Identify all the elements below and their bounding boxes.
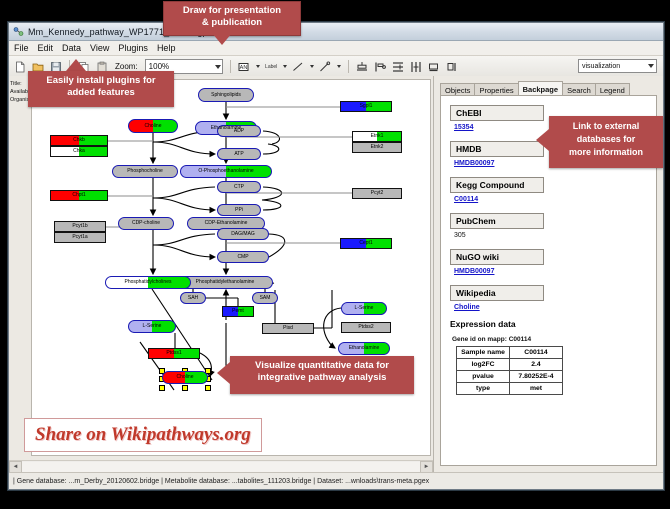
metabolite-node[interactable]: DAG/MAG: [217, 228, 269, 240]
node-label: Pcyt1b: [72, 224, 87, 229]
annotation-visualize-arrow: [217, 362, 230, 384]
metabolite-node[interactable]: L-Serine: [341, 302, 387, 315]
db-header-kegg: Kegg Compound: [450, 177, 544, 193]
expression-data-heading: Expression data: [450, 319, 656, 329]
title-bar: Mm_Kennedy_pathway_WP1771_45176.gpml: [9, 23, 663, 41]
metabolite-node[interactable]: SAM: [252, 292, 278, 304]
node-label: Ptdss2: [358, 325, 373, 330]
datanode-icon[interactable]: AN: [238, 60, 251, 73]
node-label: Pcyt2: [371, 191, 384, 196]
gene-node[interactable]: Pcyt2: [352, 188, 402, 199]
annotation-visualize-text: Visualize quantitative data for integrat…: [230, 360, 414, 384]
node-label: Pemt: [232, 309, 244, 314]
chevron-down-icon: [648, 64, 654, 68]
node-label: CTP: [234, 185, 244, 190]
line-dropdown-icon[interactable]: [310, 65, 314, 68]
tab-backpage[interactable]: Backpage: [518, 81, 563, 96]
db-header-wikipedia: Wikipedia: [450, 285, 544, 301]
node-label: ADP: [234, 129, 244, 134]
metabolite-node[interactable]: Phosphatidylethanolamine: [177, 276, 273, 289]
metabolite-node[interactable]: CTP: [217, 181, 261, 193]
annotation-links-text: Link to external databases for more info…: [549, 120, 663, 159]
annotation-link-external-databases: Link to external databases for more info…: [549, 116, 663, 168]
selection-handle[interactable]: [182, 385, 188, 391]
line-icon[interactable]: [292, 60, 305, 73]
gene-node[interactable]: Pcyt1b: [54, 221, 106, 232]
selection-handle[interactable]: [159, 385, 165, 391]
metabolite-node[interactable]: Choline: [128, 119, 178, 133]
expr-label-type: type: [457, 383, 510, 395]
node-label: O-Phosphoethanolamine: [198, 169, 253, 174]
chevron-down-icon: [215, 65, 221, 69]
menu-item-edit[interactable]: Edit: [38, 43, 54, 53]
order-icon[interactable]: [446, 60, 459, 73]
menu-bar: File Edit Data View Plugins Help: [9, 41, 663, 56]
distribute-vertical-icon[interactable]: [392, 60, 405, 73]
db-value-pubchem: 305: [454, 232, 656, 239]
table-row: Sample name C00114: [457, 347, 563, 359]
metabolite-node[interactable]: CDP-choline: [118, 217, 174, 230]
node-label: Phosphatidylethanolamine: [196, 280, 255, 285]
node-label: ATP: [234, 152, 243, 157]
annotation-draw-arrow: [212, 33, 232, 45]
node-label: Sphingolipids: [211, 93, 241, 98]
db-link-kegg[interactable]: C00114: [454, 196, 656, 203]
label-icon[interactable]: Label: [265, 60, 278, 73]
db-header-hmdb: HMDB: [450, 141, 544, 157]
side-panel-tabs: Objects Properties Backpage Search Legen…: [440, 82, 629, 96]
node-label: Ethanolamine: [349, 346, 380, 351]
expr-value-type: met: [510, 383, 563, 395]
annotation-share-text: Share on Wikipathways.org: [35, 424, 251, 446]
node-label: SAM: [260, 296, 271, 301]
annotation-draw-line1: Draw for presentation & publication: [164, 5, 300, 29]
menu-item-help[interactable]: Help: [157, 43, 176, 53]
node-label: CDP-choline: [132, 221, 160, 226]
node-label: Sgpl1: [360, 104, 373, 109]
node-label: PPi: [235, 208, 243, 213]
pathway-metadata-labels: Title: Availab Organis: [10, 80, 30, 104]
node-label: Cept1: [359, 241, 372, 246]
annotation-easily-install-plugins: Easily install plugins for added feature…: [28, 71, 174, 107]
metabolite-node[interactable]: SAH: [180, 292, 206, 304]
align-left-icon[interactable]: [374, 60, 387, 73]
visualization-combo[interactable]: visualization: [578, 59, 657, 73]
gene-node[interactable]: Etnk2: [352, 142, 402, 153]
gene-node[interactable]: Chka: [50, 146, 108, 157]
node-label: Chpt1: [72, 193, 85, 198]
annotation-links-arrow: [536, 129, 549, 151]
metabolite-node[interactable]: Choline: [162, 371, 208, 384]
align-center-icon[interactable]: [356, 60, 369, 73]
svg-text:AN: AN: [240, 65, 248, 71]
expr-label-log2fc: log2FC: [457, 359, 510, 371]
annotation-share-on-wikipathways: Share on Wikipathways.org: [24, 418, 262, 452]
metabolite-node[interactable]: Ethanolamine: [338, 342, 390, 355]
expr-label-sample-name: Sample name: [457, 347, 510, 359]
metabolite-node[interactable]: Phosphatidylcholines: [105, 276, 191, 289]
zoom-label: Zoom:: [115, 62, 138, 71]
visualization-value: visualization: [582, 63, 620, 70]
toolbar-separator-3: [348, 60, 349, 73]
gene-node[interactable]: Pcyt1a: [54, 232, 106, 243]
metabolite-node[interactable]: Sphingolipids: [198, 88, 254, 102]
db-link-nugowiki[interactable]: HMDB00097: [454, 268, 656, 275]
distribute-horizontal-icon[interactable]: [410, 60, 423, 73]
status-bar-text: | Gene database: ...m_Derby_20120602.bri…: [13, 478, 429, 485]
node-label: DAG/MAG: [231, 232, 255, 237]
node-label: Chka: [73, 149, 85, 154]
gene-node[interactable]: Pemt: [222, 306, 254, 317]
scroll-left-icon[interactable]: ◄: [9, 461, 22, 473]
menu-item-plugins[interactable]: Plugins: [118, 43, 148, 53]
table-row: log2FC 2.4: [457, 359, 563, 371]
status-bar: | Gene database: ...m_Derby_20120602.bri…: [9, 472, 663, 489]
gene-node[interactable]: Ptdss1: [148, 348, 200, 359]
node-label: CDP-Ethanolamine: [205, 221, 248, 226]
pathway-canvas[interactable]: SphingolipidsEthanolamineO-Phosphoethano…: [31, 79, 431, 456]
node-label: Choline: [145, 124, 162, 129]
gene-node[interactable]: Ptdss2: [341, 322, 391, 333]
screenshot-root: Draw for presentation & publication Mm_K…: [0, 0, 670, 509]
toolbar-separator-2: [230, 60, 231, 73]
expr-value-pvalue: 7.80252E-4: [510, 371, 563, 383]
anchor-icon[interactable]: [319, 60, 332, 73]
gene-node[interactable]: Cept1: [340, 238, 392, 249]
canvas-pane: Title: Availab Organis: [9, 76, 433, 472]
db-header-chebi: ChEBI: [450, 105, 544, 121]
annotation-visualize-quantitative-data: Visualize quantitative data for integrat…: [230, 356, 414, 394]
db-header-nugowiki: NuGO wiki: [450, 249, 544, 265]
node-label: Pcyt1a: [72, 235, 87, 240]
anchor-dropdown-icon[interactable]: [337, 65, 341, 68]
menu-item-view[interactable]: View: [90, 43, 109, 53]
node-label: Chkb: [73, 138, 85, 143]
db-header-pubchem: PubChem: [450, 213, 544, 229]
node-label: Phosphocholine: [127, 169, 163, 174]
meta-label-available: Availab: [10, 88, 30, 96]
scroll-track[interactable]: [22, 462, 420, 472]
label-dropdown-icon[interactable]: [283, 65, 287, 68]
expr-value-log2fc: 2.4: [510, 359, 563, 371]
gene-node[interactable]: Pisd: [262, 323, 314, 334]
metabolite-node[interactable]: PPi: [217, 204, 261, 216]
meta-label-organism: Organis: [10, 96, 30, 104]
metabolite-node[interactable]: Phosphocholine: [112, 165, 178, 178]
scroll-right-icon[interactable]: ►: [420, 461, 433, 473]
metabolite-node[interactable]: ATP: [217, 148, 261, 160]
expr-value-sample-name: C00114: [510, 347, 563, 359]
annotation-plugins-arrow: [66, 59, 86, 71]
node-label: Pisd: [283, 326, 293, 331]
annotation-plugins-text: Easily install plugins for added feature…: [28, 75, 174, 99]
expression-table: Sample name C00114 log2FC 2.4 pvalue 7.8…: [456, 346, 563, 395]
datanode-dropdown-icon[interactable]: [256, 65, 260, 68]
menu-item-file[interactable]: File: [14, 43, 29, 53]
metabolite-node[interactable]: O-Phosphoethanolamine: [180, 165, 272, 178]
metabolite-node[interactable]: CMP: [217, 251, 269, 263]
node-label: L-Serine: [143, 324, 162, 329]
gene-node[interactable]: Sgpl1: [340, 101, 392, 112]
table-row: type met: [457, 383, 563, 395]
gene-node[interactable]: Etnk1: [352, 131, 402, 142]
node-label: CMP: [237, 255, 248, 260]
group-icon[interactable]: [428, 60, 441, 73]
canvas-hscrollbar[interactable]: ◄ ►: [9, 460, 433, 472]
metabolite-node[interactable]: L-Serine: [128, 320, 176, 333]
node-label: SAH: [188, 296, 198, 301]
node-label: Etnk2: [371, 145, 384, 150]
meta-label-title: Title:: [10, 80, 30, 88]
node-label: Ptdss1: [166, 351, 181, 356]
gene-id-line: Gene id on mapp: C00114: [452, 336, 656, 343]
node-label: Etnk1: [371, 134, 384, 139]
table-row: pvalue 7.80252E-4: [457, 371, 563, 383]
annotation-draw-for-presentation: Draw for presentation & publication: [163, 1, 301, 36]
selection-handle[interactable]: [205, 385, 211, 391]
pathvisio-icon: [13, 26, 24, 37]
menu-item-data[interactable]: Data: [62, 43, 81, 53]
gene-node[interactable]: Chpt1: [50, 190, 108, 201]
gene-node[interactable]: Chkb: [50, 135, 108, 146]
expr-label-pvalue: pvalue: [457, 371, 510, 383]
new-file-icon[interactable]: [13, 60, 26, 73]
node-label: Phosphatidylcholines: [125, 280, 172, 285]
db-link-wikipedia[interactable]: Choline: [454, 304, 656, 311]
node-label: Choline: [177, 375, 194, 380]
zoom-value: 100%: [149, 62, 169, 71]
node-label: L-Serine: [355, 306, 374, 311]
